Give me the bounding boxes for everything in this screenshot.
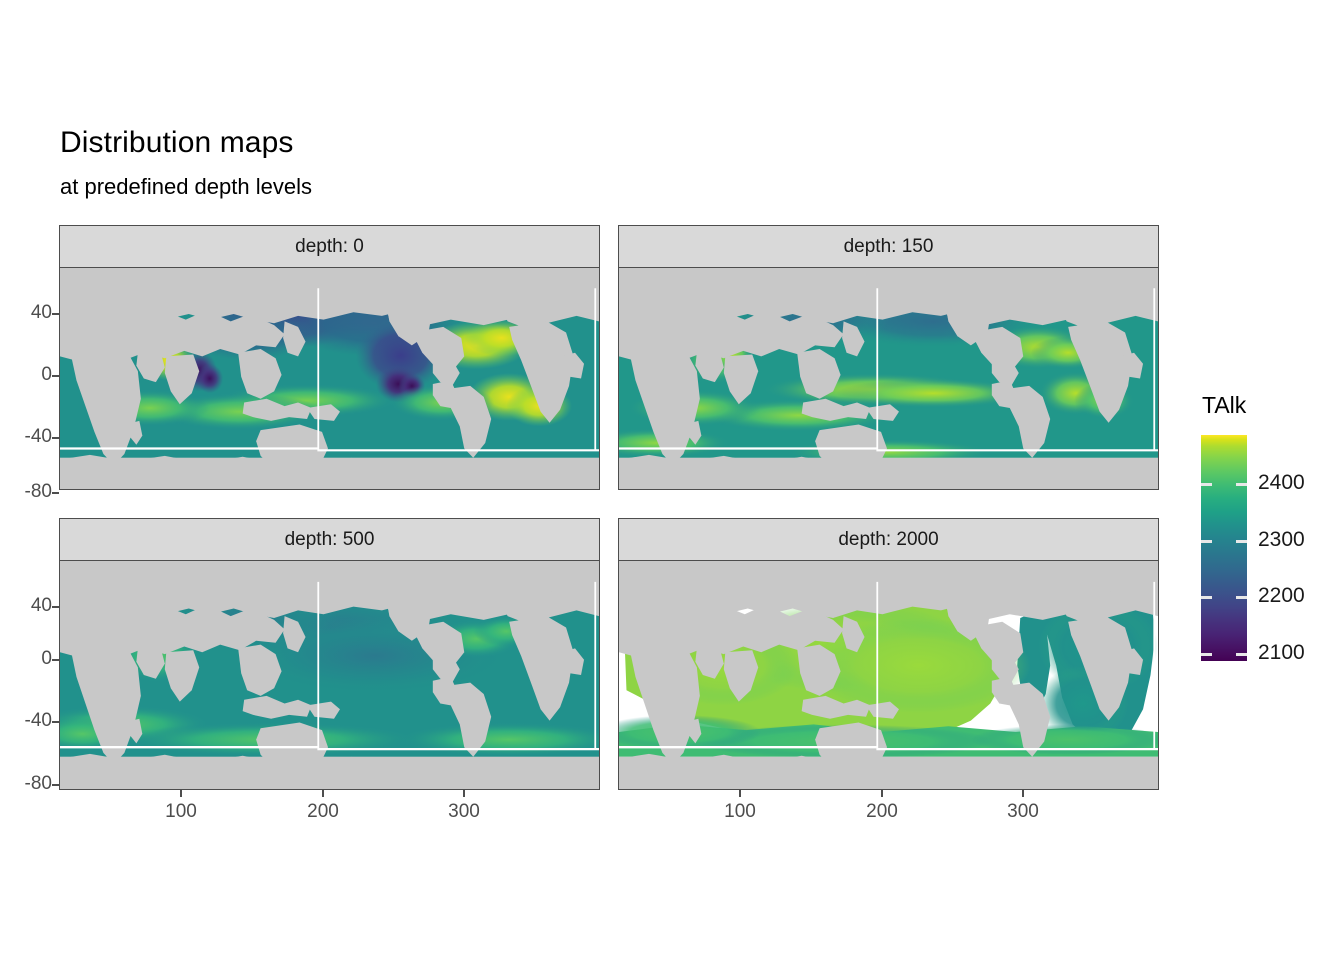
- y-tick-label-1: 0: [6, 364, 52, 386]
- map-plot-depth-0[interactable]: [59, 267, 600, 490]
- page-subtitle: at predefined depth levels: [60, 174, 312, 200]
- legend-tick-mark: [1201, 596, 1212, 599]
- facet-strip-depth-2000: depth: 2000: [618, 518, 1159, 561]
- facet-strip-label: depth: 0: [295, 236, 364, 258]
- map-plot-depth-150[interactable]: [618, 267, 1159, 490]
- legend-colorbar[interactable]: [1201, 435, 1247, 661]
- y-tick-label-2: -40: [6, 710, 52, 732]
- facet-strip-label: depth: 150: [844, 236, 934, 258]
- facet-strip-depth-500: depth: 500: [59, 518, 600, 561]
- x-tick-label-2: 300: [993, 801, 1053, 823]
- legend-tick-mark: [1236, 483, 1247, 486]
- y-tick-label-0: 40: [6, 595, 52, 617]
- y-tick-label-2: -40: [6, 426, 52, 448]
- x-tick-label-1: 200: [852, 801, 912, 823]
- x-tick-label-0: 100: [151, 801, 211, 823]
- y-tick-mark: [52, 659, 59, 661]
- facet-strip-label: depth: 2000: [838, 529, 938, 551]
- page-title: Distribution maps: [60, 126, 293, 160]
- legend-tick-mark: [1201, 540, 1212, 543]
- facet-panel-depth-150: depth: 150: [618, 225, 1159, 490]
- legend-tick-mark: [1236, 653, 1247, 656]
- x-tick-label-2: 300: [434, 801, 494, 823]
- y-tick-mark: [52, 313, 59, 315]
- facet-panel-depth-2000: depth: 2000: [618, 518, 1159, 790]
- x-tick-mark: [463, 790, 465, 797]
- facet-panel-depth-0: depth: 0: [59, 225, 600, 490]
- y-tick-mark: [52, 606, 59, 608]
- legend-label-2100: 2100: [1258, 641, 1305, 665]
- y-tick-label-3: -80: [6, 481, 52, 503]
- map-plot-depth-2000[interactable]: [618, 560, 1159, 790]
- y-tick-label-0: 40: [6, 302, 52, 324]
- legend-tick-mark: [1236, 540, 1247, 543]
- x-tick-label-1: 200: [293, 801, 353, 823]
- legend-tick-mark: [1236, 596, 1247, 599]
- x-tick-label-0: 100: [710, 801, 770, 823]
- x-tick-mark: [322, 790, 324, 797]
- facet-panel-depth-500: depth: 500: [59, 518, 600, 790]
- y-tick-mark: [52, 784, 59, 786]
- y-tick-label-1: 0: [6, 648, 52, 670]
- y-tick-mark: [52, 721, 59, 723]
- y-tick-mark: [52, 375, 59, 377]
- legend-label-2400: 2400: [1258, 471, 1305, 495]
- y-tick-mark: [52, 492, 59, 494]
- legend-tick-mark: [1201, 653, 1212, 656]
- y-tick-label-3: -80: [6, 773, 52, 795]
- facet-strip-depth-150: depth: 150: [618, 225, 1159, 268]
- x-tick-mark: [739, 790, 741, 797]
- x-tick-mark: [1022, 790, 1024, 797]
- x-tick-mark: [881, 790, 883, 797]
- y-tick-mark: [52, 437, 59, 439]
- legend-title: TAlk: [1202, 392, 1246, 419]
- legend-tick-mark: [1201, 483, 1212, 486]
- map-plot-depth-500[interactable]: [59, 560, 600, 790]
- x-tick-mark: [180, 790, 182, 797]
- facet-strip-label: depth: 500: [285, 529, 375, 551]
- legend-label-2200: 2200: [1258, 584, 1305, 608]
- facet-strip-depth-0: depth: 0: [59, 225, 600, 268]
- legend-label-2300: 2300: [1258, 528, 1305, 552]
